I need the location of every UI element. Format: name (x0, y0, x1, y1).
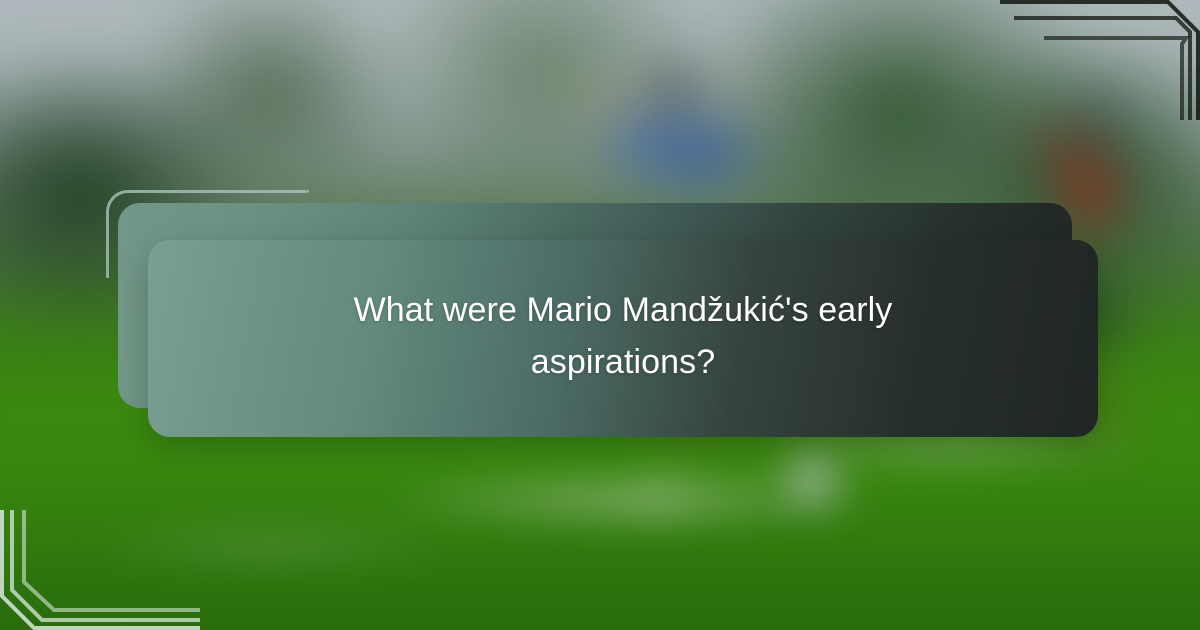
card-title: What were Mario Mandžukić's early aspira… (148, 284, 1098, 388)
card-title-line-1: What were Mario Mandžukić's early (354, 291, 893, 329)
question-card[interactable]: What were Mario Mandžukić's early aspira… (148, 240, 1098, 437)
corner-bracket-bottom-left-icon (0, 510, 200, 630)
corner-bracket-top-right-icon (1000, 0, 1200, 120)
card-title-line-2: aspirations? (531, 343, 716, 381)
screenshot-stage: What were Mario Mandžukić's early aspira… (0, 0, 1200, 630)
